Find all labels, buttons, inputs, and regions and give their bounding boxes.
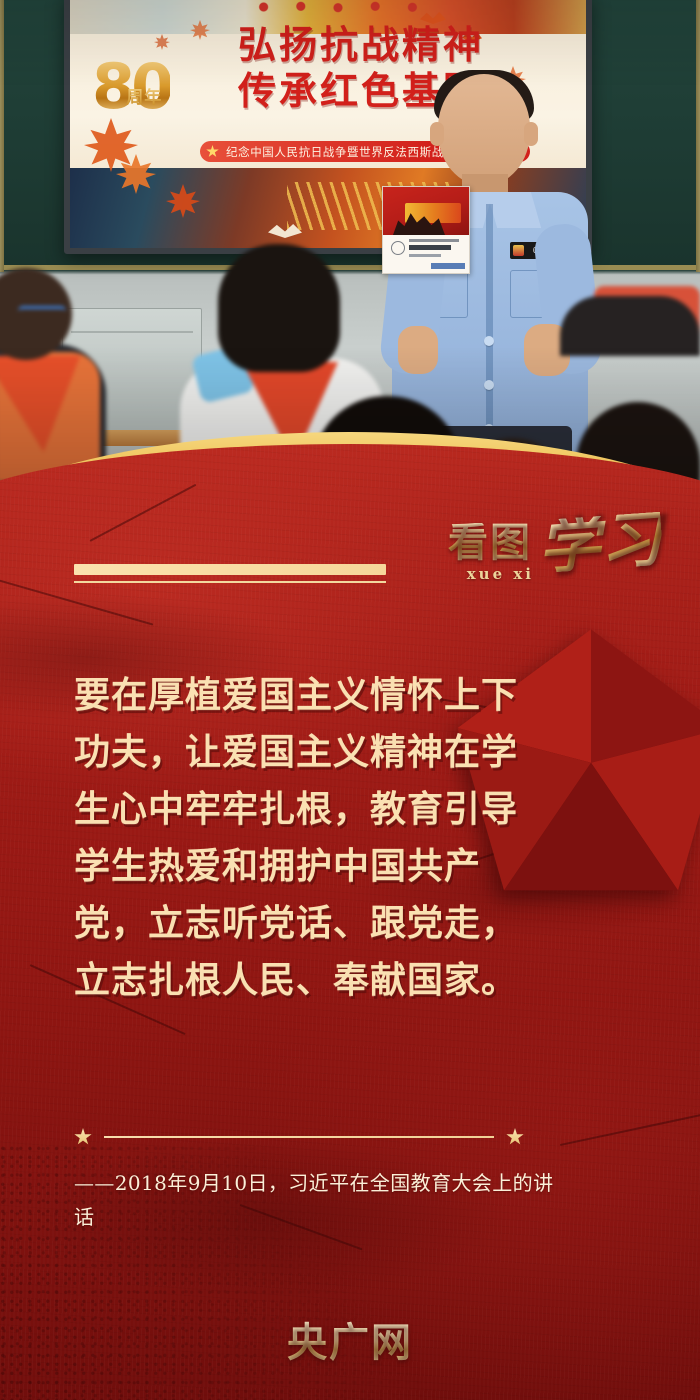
eyeglasses-icon bbox=[18, 306, 66, 316]
quote-block: 要在厚植爱国主义情怀上下 功夫，让爱国主义精神在学 生心中牢牢扎根，教育引导 学… bbox=[74, 678, 634, 1020]
booklet-emblem-icon bbox=[391, 241, 405, 255]
booklet-text-line bbox=[409, 239, 459, 242]
section-title: 看图 学习 xue xi bbox=[448, 516, 662, 583]
star-rule-decoration bbox=[74, 1128, 524, 1146]
officer-ear bbox=[430, 122, 444, 146]
booklet-cover bbox=[383, 187, 469, 235]
uniform-button bbox=[484, 380, 494, 390]
section-title-part1: 看图 bbox=[448, 523, 532, 563]
booklet-text-line bbox=[409, 245, 451, 250]
blackboard-edge-right bbox=[696, 0, 700, 272]
anniversary-emblem: 80 周年 bbox=[92, 50, 212, 124]
officer-hand bbox=[398, 326, 438, 374]
quote-line: 生心中牢牢扎根，教育引导 bbox=[74, 792, 634, 828]
student-body bbox=[560, 296, 700, 356]
anniversary-unit: 周年 bbox=[126, 83, 162, 108]
footer-logo: 央广网 bbox=[0, 1310, 700, 1368]
quote-line: 党，立志听党话、跟党走， bbox=[74, 906, 634, 942]
section-title-pinyin: xue xi bbox=[448, 565, 534, 583]
star-icon bbox=[206, 145, 219, 158]
classroom-photo: 80 周年 弘扬抗战精神 传承红色基因 纪念中国人民抗日战争暨世界反法西斯战争胜… bbox=[0, 0, 700, 482]
officer-head bbox=[438, 74, 530, 186]
section-title-part2: 学习 bbox=[536, 512, 663, 574]
title-rule-decoration bbox=[74, 564, 386, 583]
student-head bbox=[218, 244, 340, 372]
banner-title-line1: 弘扬抗战精神 bbox=[238, 22, 588, 68]
quote-line: 学生热爱和拥护中国共产 bbox=[74, 849, 634, 885]
poster-root: 80 周年 弘扬抗战精神 传承红色基因 纪念中国人民抗日战争暨世界反法西斯战争胜… bbox=[0, 0, 700, 1400]
rule-thick bbox=[74, 564, 386, 575]
quote-attribution: ——2018年9月10日，习近平在全国教育大会上的讲话 bbox=[74, 1166, 554, 1234]
quote-line: 功夫，让爱国主义精神在学 bbox=[74, 735, 634, 771]
footer-logo-text: 央广网 bbox=[287, 1320, 413, 1366]
uniform-button bbox=[484, 336, 494, 346]
held-booklet bbox=[382, 186, 470, 274]
booklet-publisher-mark bbox=[431, 263, 465, 269]
quote-line: 要在厚植爱国主义情怀上下 bbox=[74, 678, 634, 714]
star-icon bbox=[74, 1128, 92, 1146]
quote-line: 立志扎根人民、奉献国家。 bbox=[74, 963, 634, 999]
blackboard-edge-left bbox=[0, 0, 4, 272]
rule-thin bbox=[74, 581, 386, 583]
officer-ear bbox=[524, 122, 538, 146]
rule-line bbox=[104, 1136, 494, 1138]
booklet-text-line bbox=[409, 254, 441, 257]
star-icon bbox=[506, 1128, 524, 1146]
